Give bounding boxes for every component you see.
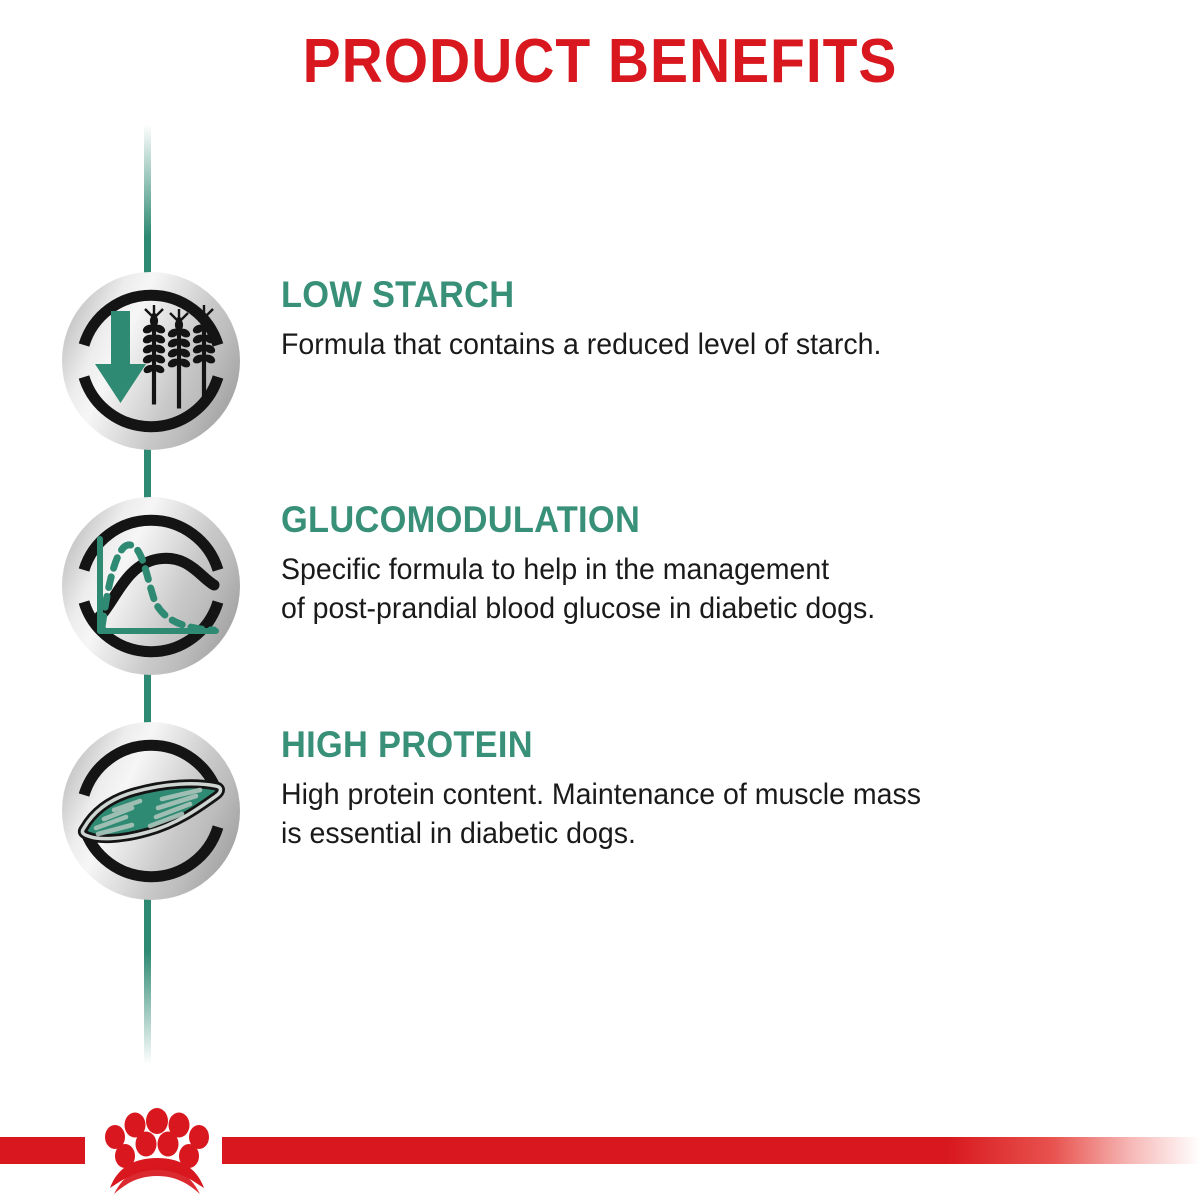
benefit-text-glucomodulation: GLUCOMODULATION Specific formula to help…: [281, 501, 1101, 628]
product-benefits-page: PRODUCT BENEFITS: [0, 0, 1200, 1200]
benefit-icon-glucomodulation: [62, 497, 240, 675]
band-segment-left: [0, 1137, 85, 1164]
benefit-body: Specific formula to help in the manageme…: [281, 550, 1060, 628]
benefit-heading: GLUCOMODULATION: [281, 501, 1044, 540]
metallic-disc: [62, 497, 240, 675]
royal-canin-crown-icon: [84, 1104, 230, 1200]
benefit-body: High protein content. Maintenance of mus…: [281, 775, 1060, 853]
benefit-icon-high-protein: [62, 722, 240, 900]
muscle-fiber-icon: [62, 722, 240, 900]
glucose-curve-graph-icon: [62, 497, 240, 675]
metallic-disc: [62, 722, 240, 900]
down-arrow-wheat-icon: [62, 272, 240, 450]
benefit-text-low-starch: LOW STARCH Formula that contains a reduc…: [281, 276, 1101, 364]
benefit-icon-low-starch: [62, 272, 240, 450]
footer-brand-band: [0, 1122, 1200, 1200]
benefit-heading: HIGH PROTEIN: [281, 726, 1044, 765]
benefit-text-high-protein: HIGH PROTEIN High protein content. Maint…: [281, 726, 1101, 853]
metallic-disc: [62, 272, 240, 450]
page-title: PRODUCT BENEFITS: [48, 26, 1152, 97]
benefit-heading: LOW STARCH: [281, 276, 1044, 315]
benefit-body: Formula that contains a reduced level of…: [281, 325, 1060, 364]
band-segment-right: [222, 1137, 1200, 1164]
